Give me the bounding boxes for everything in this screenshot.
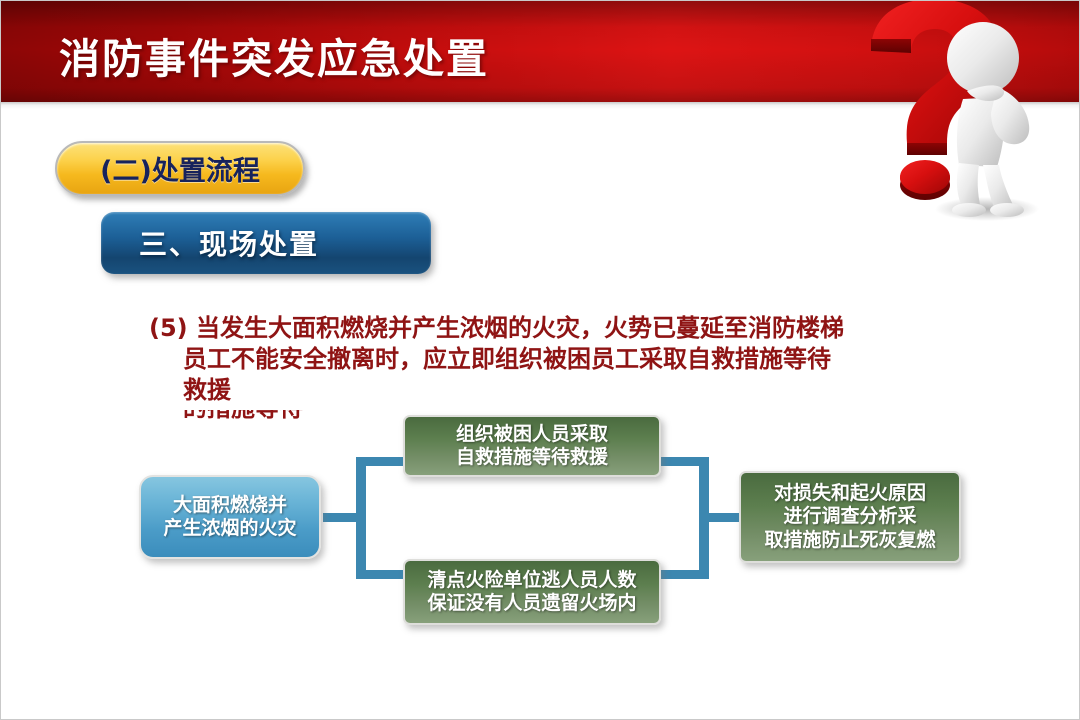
process-flow-diagram: 大面积燃烧并 产生浓烟的火灾 组织被困人员采取 自救措施等待救援 清点火险单位逃…: [1, 401, 1080, 661]
connector-right-stem: [705, 513, 743, 522]
flow-node-top-line-1: 组织被困人员采取: [456, 423, 608, 445]
flow-node-top[interactable]: 组织被困人员采取 自救措施等待救援: [403, 415, 661, 477]
flow-node-bottom-line-2: 保证没有人员遗留火场内: [427, 592, 636, 614]
flow-node-result-line-2: 进行调查分析采: [783, 505, 916, 527]
flow-node-result[interactable]: 对损失和起火原因 进行调查分析采 取措施防止死灰复燃: [739, 471, 961, 563]
flow-node-bottom[interactable]: 清点火险单位逃人员人数 保证没有人员遗留火场内: [403, 559, 661, 625]
connector-left-top-arm: [356, 457, 404, 466]
flow-node-top-line-2: 自救措施等待救援: [456, 446, 608, 468]
flow-node-source-line-2: 产生浓烟的火灾: [163, 517, 296, 539]
paragraph-line-2: 员工不能安全撤离时，应立即组织被困员工采取自救措施等待: [149, 344, 961, 375]
flow-node-result-line-1: 对损失和起火原因: [774, 482, 926, 504]
section-heading: 三、现场处置: [101, 212, 431, 274]
question-mark-person-icon: [847, 0, 1080, 225]
slide: 消防事件突发应急处置: [0, 0, 1080, 720]
paragraph-marker: (5): [149, 314, 188, 342]
section-heading-label: 三、现场处置: [139, 223, 319, 263]
flow-node-source-line-1: 大面积燃烧并: [173, 494, 287, 516]
flow-node-bottom-line-1: 清点火险单位逃人员人数: [427, 569, 636, 591]
connector-left-vertical: [356, 457, 366, 579]
section-badge: (二)处置流程: [55, 141, 305, 196]
body-paragraph: (5) 当发生大面积燃烧并产生浓烟的火灾，火势已蔓延至消防楼梯 员工不能安全撤离…: [149, 313, 961, 406]
section-badge-label: (二)处置流程: [100, 149, 260, 188]
flow-node-source[interactable]: 大面积燃烧并 产生浓烟的火灾: [139, 475, 321, 559]
connector-left-bottom-arm: [356, 570, 404, 579]
flow-node-result-line-3: 取措施防止死灰复燃: [764, 529, 935, 551]
page-title: 消防事件突发应急处置: [59, 25, 489, 85]
paragraph-line-1: 当发生大面积燃烧并产生浓烟的火灾，火势已蔓延至消防楼梯: [196, 314, 844, 342]
